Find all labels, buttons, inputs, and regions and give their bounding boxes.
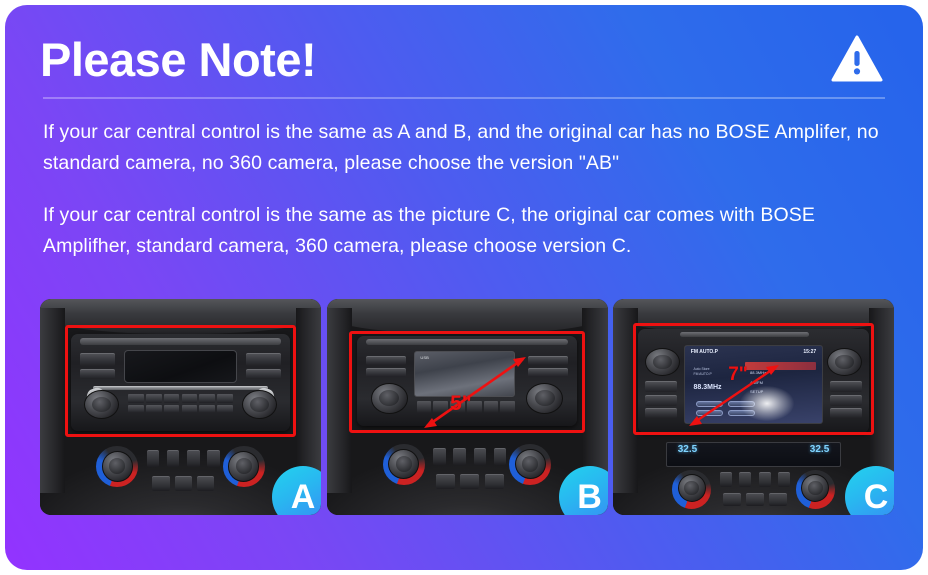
preset-button[interactable] [500, 401, 515, 413]
audio-button-c[interactable] [645, 395, 677, 406]
climate-temp-right-c: 32.5 [810, 444, 829, 455]
menu-button-c[interactable] [645, 381, 677, 392]
preset-button[interactable] [164, 405, 180, 413]
climate-button[interactable] [474, 448, 486, 465]
dashboard-hood-a [40, 299, 321, 334]
radio-button-a[interactable] [80, 353, 115, 366]
back-button-c[interactable] [645, 408, 677, 418]
ac-temp-knob-a[interactable] [102, 451, 133, 481]
climate-button[interactable] [759, 472, 771, 487]
climate-temp-left-c: 32.5 [678, 444, 697, 455]
climate-button[interactable] [197, 476, 214, 491]
climate-buttons-row1-c[interactable] [720, 472, 790, 487]
screen-selected-station-c [745, 362, 816, 370]
climate-buttons-row1-b[interactable] [433, 448, 506, 465]
screen-subtext-c: Auto StoreFM AUTO.P [694, 367, 712, 377]
power-volume-knob-a[interactable] [84, 390, 119, 419]
dashboard-side-left-c [613, 308, 638, 494]
head-unit-c: FM AUTO.P 15:27 Auto StoreFM AUTO.P 88.3… [638, 329, 868, 433]
tune-band-button-c[interactable] [830, 395, 862, 406]
preset-button[interactable] [484, 401, 499, 413]
dashboard-hood-b [327, 299, 608, 334]
preset-button[interactable] [217, 405, 233, 413]
climate-button[interactable] [147, 450, 159, 467]
climate-buttons-row1-a[interactable] [147, 450, 220, 467]
screen-pill-extra1-c[interactable] [696, 410, 723, 416]
car-stereo-photo-b[interactable]: USB 5" [327, 299, 608, 515]
preset-row-a[interactable] [128, 394, 233, 403]
climate-button[interactable] [433, 448, 445, 465]
power-volume-knob-c[interactable] [645, 348, 680, 376]
screen-source-label-c: FM AUTO.P [691, 349, 718, 355]
header-divider [43, 97, 885, 99]
climate-buttons-row2-c[interactable] [723, 493, 788, 506]
photo-row: A USB [40, 299, 894, 531]
card-header: Please Note! [40, 27, 893, 93]
menu-track-button-b[interactable] [528, 356, 567, 365]
display-screen-b: USB [414, 351, 515, 396]
page-title: Please Note! [40, 27, 893, 93]
back-band-button-b[interactable] [528, 368, 567, 377]
head-unit-a [71, 334, 290, 431]
size-annotation-text-b: 5" [450, 392, 472, 416]
climate-button[interactable] [494, 448, 506, 465]
climate-button[interactable] [175, 476, 192, 491]
climate-button[interactable] [453, 448, 465, 465]
media-disp-button-b[interactable] [366, 368, 405, 377]
climate-button[interactable] [207, 450, 219, 467]
climate-button[interactable] [167, 450, 179, 467]
car-stereo-photo-a[interactable]: A [40, 299, 321, 515]
preset-button[interactable] [146, 405, 162, 413]
preset-button[interactable] [217, 394, 233, 403]
preset-button[interactable] [433, 401, 448, 413]
disp-button-a[interactable] [80, 369, 115, 380]
screen-glare-c [740, 386, 794, 421]
display-a [124, 350, 238, 383]
climate-button[interactable] [187, 450, 199, 467]
cd-slot-a [80, 338, 282, 345]
preset-button[interactable] [199, 405, 215, 413]
notice-paragraph-2: If your car central control is the same … [43, 200, 898, 262]
seek-button-c[interactable] [830, 408, 862, 418]
notice-paragraph-1: If your car central control is the same … [43, 117, 898, 179]
climate-buttons-row2-a[interactable] [152, 476, 214, 491]
radio-cd-button-b[interactable] [366, 356, 405, 365]
climate-button[interactable] [739, 472, 751, 487]
preset-button[interactable] [128, 394, 144, 403]
screen-clock-c: 15:27 [803, 349, 816, 355]
chrome-trim-a [93, 386, 268, 390]
fan-knob-b[interactable] [515, 449, 546, 479]
screen-pill-autop-c[interactable] [696, 401, 723, 407]
preset-button[interactable] [182, 405, 198, 413]
climate-display-c: 32.5 32.5 [666, 442, 840, 468]
warning-triangle-icon [831, 33, 883, 85]
mute-button-a[interactable] [246, 369, 281, 380]
power-volume-knob-b[interactable] [371, 383, 408, 414]
preset-button[interactable] [164, 394, 180, 403]
climate-button[interactable] [746, 493, 764, 506]
preset-button[interactable] [417, 401, 432, 413]
preset-row2-a[interactable] [128, 405, 233, 413]
climate-button[interactable] [460, 474, 479, 489]
car-stereo-photo-c[interactable]: FM AUTO.P 15:27 Auto StoreFM AUTO.P 88.3… [613, 299, 894, 515]
tune-knob-a[interactable] [242, 390, 277, 419]
size-annotation-text-c: 7" [728, 364, 748, 386]
cd-slot-b [366, 339, 568, 345]
dashboard-side-left-b [327, 308, 352, 494]
preset-button[interactable] [182, 394, 198, 403]
screen-source-label-b: USB [420, 355, 429, 360]
fan-knob-a[interactable] [228, 451, 259, 481]
preset-button[interactable] [128, 405, 144, 413]
preset-button[interactable] [199, 394, 215, 403]
media-button-a[interactable] [246, 353, 281, 366]
disp-button-c[interactable] [830, 381, 862, 392]
climate-button[interactable] [485, 474, 504, 489]
screen-list-item-1-c[interactable]: 88.3MHz [748, 370, 813, 377]
climate-button[interactable] [778, 472, 790, 487]
screen-frequency-c: 88.3MHz [694, 384, 722, 391]
climate-button[interactable] [769, 493, 787, 506]
tune-knob-b[interactable] [526, 383, 563, 414]
climate-buttons-row2-b[interactable] [436, 474, 503, 489]
notice-body: If your car central control is the same … [43, 117, 898, 283]
driver-temp-knob-c[interactable] [678, 474, 706, 502]
climate-button[interactable] [720, 472, 732, 487]
please-note-card: Please Note! If your car central control… [5, 5, 923, 570]
touchscreen-display-c[interactable]: FM AUTO.P 15:27 Auto StoreFM AUTO.P 88.3… [684, 345, 822, 424]
preset-button[interactable] [146, 394, 162, 403]
climate-button[interactable] [152, 476, 169, 491]
dashboard-side-left-a [40, 308, 65, 494]
climate-button[interactable] [723, 493, 741, 506]
screen-list-item-2-c[interactable]: AM/FM [748, 380, 813, 387]
tune-knob-c[interactable] [827, 348, 862, 376]
climate-button[interactable] [436, 474, 455, 489]
unit-top-trim-c [680, 332, 809, 337]
